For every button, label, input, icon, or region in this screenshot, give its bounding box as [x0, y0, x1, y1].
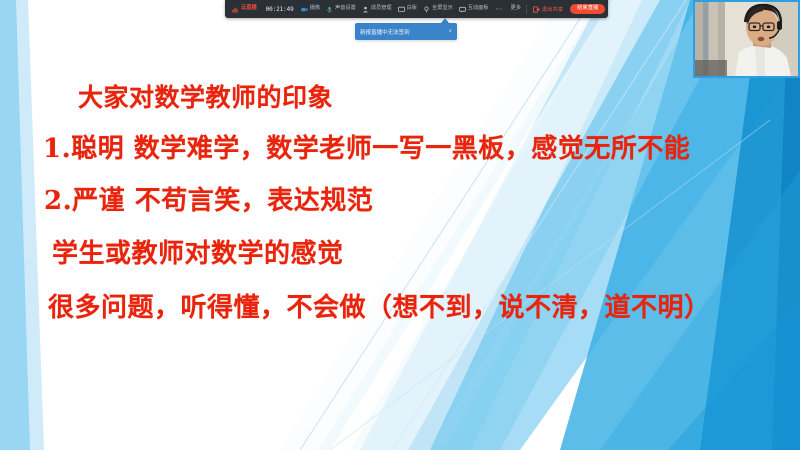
close-icon[interactable]: × [444, 29, 452, 35]
slide-line-4: 很多问题，听得懂，不会做（想不到，说不清，道不明） [48, 287, 711, 324]
person-icon [362, 6, 369, 13]
toolbar-whiteboard-button[interactable]: 白板 [395, 0, 420, 18]
slide-text-body: 大家对数学教师的印象 1.聪明 数学难学，数学老师一写一黑板，感觉无所不能 2.… [0, 0, 800, 450]
notice-text: 新报直播中无法签到 [360, 28, 444, 36]
exit-share-button[interactable]: 退出共享 [529, 0, 567, 18]
toolbar-microphone-label: 声音设置 [335, 6, 356, 11]
toolbar-divider [526, 5, 527, 14]
screen-icon [398, 6, 405, 13]
toolbar-camera-label: 摄像 [310, 6, 320, 11]
toolbar-brand: 云直播 [229, 0, 262, 18]
toolbar-more-label: 更多 [511, 6, 521, 11]
slide-line-1: 1.聪明 数学难学，数学老师一写一黑板，感觉无所不能 [43, 128, 690, 165]
slide-line-3: 学生或教师对数学的感觉 [52, 233, 344, 270]
toolbar-session-timer: 00:21:49 [262, 6, 298, 13]
microphone-icon [326, 6, 333, 13]
toolbar-camera-button[interactable]: 摄像 [298, 0, 323, 18]
toolbar-brand-label: 云直播 [241, 6, 259, 11]
toolbar-members-button[interactable]: 成员管理 [359, 0, 395, 18]
live-broadcast-toolbar[interactable]: 云直播 00:21:49 摄像 声音设置 [225, 0, 608, 18]
toolbar-whiteboard-label: 白板 [407, 6, 417, 11]
exit-share-icon [533, 6, 540, 13]
toolbar-microphone-button[interactable]: 声音设置 [323, 0, 359, 18]
notice-banner[interactable]: 新报直播中无法签到 × [355, 23, 457, 40]
signal-bars-icon [232, 6, 239, 13]
chat-icon [459, 6, 466, 13]
toolbar-chat-button[interactable]: 互动面板 [456, 0, 492, 18]
presentation-slide: 大家对数学教师的印象 1.聪明 数学难学，数学老师一写一黑板，感觉无所不能 2.… [0, 0, 800, 450]
slide-line-2: 2.严谨 不苟言笑，表达规范 [44, 180, 373, 217]
toolbar-members-label: 成员管理 [371, 6, 392, 11]
record-icon [423, 6, 430, 13]
webcam-video-feed [695, 2, 798, 76]
end-live-button[interactable]: 结束直播 [570, 4, 605, 14]
ellipsis-icon[interactable]: ⋯ [492, 5, 508, 13]
toolbar-chat-label: 互动面板 [468, 6, 489, 11]
toolbar-more-button[interactable]: 更多 [508, 0, 524, 18]
screen-share-window: 大家对数学教师的印象 1.聪明 数学难学，数学老师一写一黑板，感觉无所不能 2.… [0, 0, 800, 450]
presenter-webcam-pip[interactable] [693, 0, 800, 78]
toolbar-fullscreen-button[interactable]: 全屏显示 [420, 0, 456, 18]
slide-title: 大家对数学教师的印象 [78, 78, 333, 114]
toolbar-fullscreen-label: 全屏显示 [432, 6, 453, 11]
exit-share-label: 退出共享 [542, 5, 563, 13]
camera-icon [301, 6, 308, 13]
